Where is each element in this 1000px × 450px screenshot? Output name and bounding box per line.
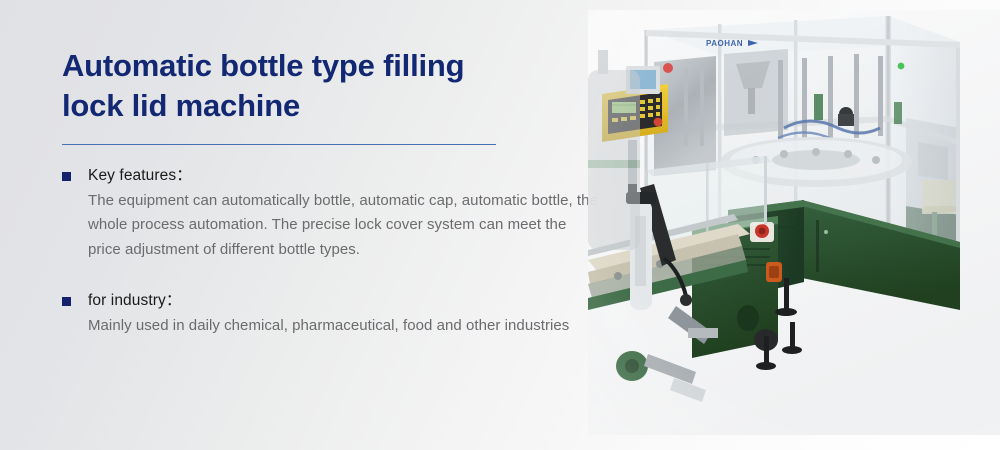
feature-body: Mainly used in daily chemical, pharmaceu… bbox=[88, 314, 602, 338]
product-photo: PAOHAN bbox=[588, 10, 1000, 435]
feature-heading: Key features： bbox=[88, 165, 602, 187]
feature-block-key-features: Key features： The equipment can automati… bbox=[62, 165, 602, 262]
background-tank bbox=[588, 50, 640, 250]
square-bullet-icon bbox=[62, 172, 71, 181]
product-banner: Automatic bottle type filling lock lid m… bbox=[0, 0, 1000, 450]
title-divider bbox=[62, 144, 496, 145]
feature-list: Key features： The equipment can automati… bbox=[62, 165, 602, 339]
svg-text:PAOHAN: PAOHAN bbox=[706, 39, 743, 48]
text-content: Automatic bottle type filling lock lid m… bbox=[62, 46, 602, 339]
page-title-line-2: lock lid machine bbox=[62, 86, 602, 126]
feature-block-for-industry: for industry： Mainly used in daily chemi… bbox=[62, 290, 602, 339]
square-bullet-icon bbox=[62, 297, 71, 306]
feature-body: The equipment can automatically bottle, … bbox=[88, 189, 602, 262]
feature-heading: for industry： bbox=[88, 290, 602, 312]
page-title-line-1: Automatic bottle type filling bbox=[62, 46, 602, 86]
page-title: Automatic bottle type filling lock lid m… bbox=[62, 46, 602, 127]
